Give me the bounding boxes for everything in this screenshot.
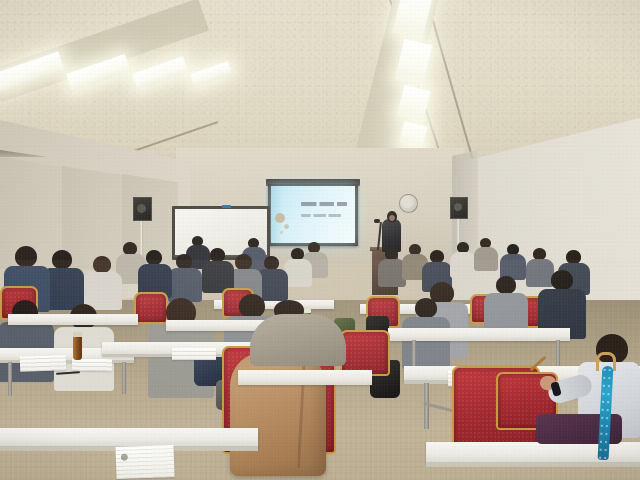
slide-subtitle-text (301, 214, 341, 217)
slide-bubble-medium-icon (284, 224, 289, 229)
handout-text (172, 348, 216, 360)
attendee-head (496, 276, 516, 294)
attendee-head (146, 250, 162, 265)
slide-title-text (301, 202, 347, 206)
table-edge (426, 462, 640, 467)
speaker-cone-icon (454, 203, 462, 211)
attendee-head (415, 298, 437, 318)
seminar-room-photo (0, 0, 640, 480)
attendee-head (566, 250, 581, 264)
handout-text (115, 445, 174, 479)
attendee-torso (84, 272, 122, 310)
attendee-head (93, 256, 111, 273)
clock-face (402, 197, 413, 208)
presenter-face (389, 215, 395, 221)
attendee-head (551, 270, 573, 290)
table-row (238, 370, 372, 385)
slide-bubble-large-icon (275, 213, 285, 223)
chair-back (134, 292, 168, 324)
attendee-torso (284, 259, 312, 287)
table-row (8, 314, 138, 325)
attendee-head (15, 246, 37, 267)
attendee-torso (450, 252, 476, 278)
table-row (0, 428, 258, 448)
marker-icon (222, 205, 231, 208)
bottle-brown-tea (73, 336, 82, 360)
attendee-head (176, 254, 192, 269)
attendee-head (52, 250, 72, 269)
table-leg (556, 340, 560, 368)
attendee-head (235, 254, 252, 270)
handout-center (172, 348, 216, 360)
slide-bubble-small-icon (280, 231, 283, 234)
speaker-cone-icon (137, 204, 146, 213)
handout-left (20, 355, 66, 372)
table-leg (122, 362, 126, 394)
microphone-icon (374, 219, 380, 223)
bottle-cap (304, 309, 311, 313)
partition-panel (62, 166, 123, 270)
attendee-torso (474, 247, 498, 271)
attendee-head (210, 248, 225, 262)
handout-front (115, 445, 174, 479)
attendee-torso (402, 317, 450, 369)
handout-text (20, 355, 66, 372)
attendee-head (239, 294, 265, 318)
attendee-torso (526, 259, 554, 287)
attendee-torso (250, 314, 346, 366)
attendee-head (264, 256, 279, 270)
attendee-torso (168, 268, 202, 302)
table-leg (8, 362, 12, 396)
bottle-cap (73, 332, 82, 337)
projection-screen (271, 186, 355, 243)
